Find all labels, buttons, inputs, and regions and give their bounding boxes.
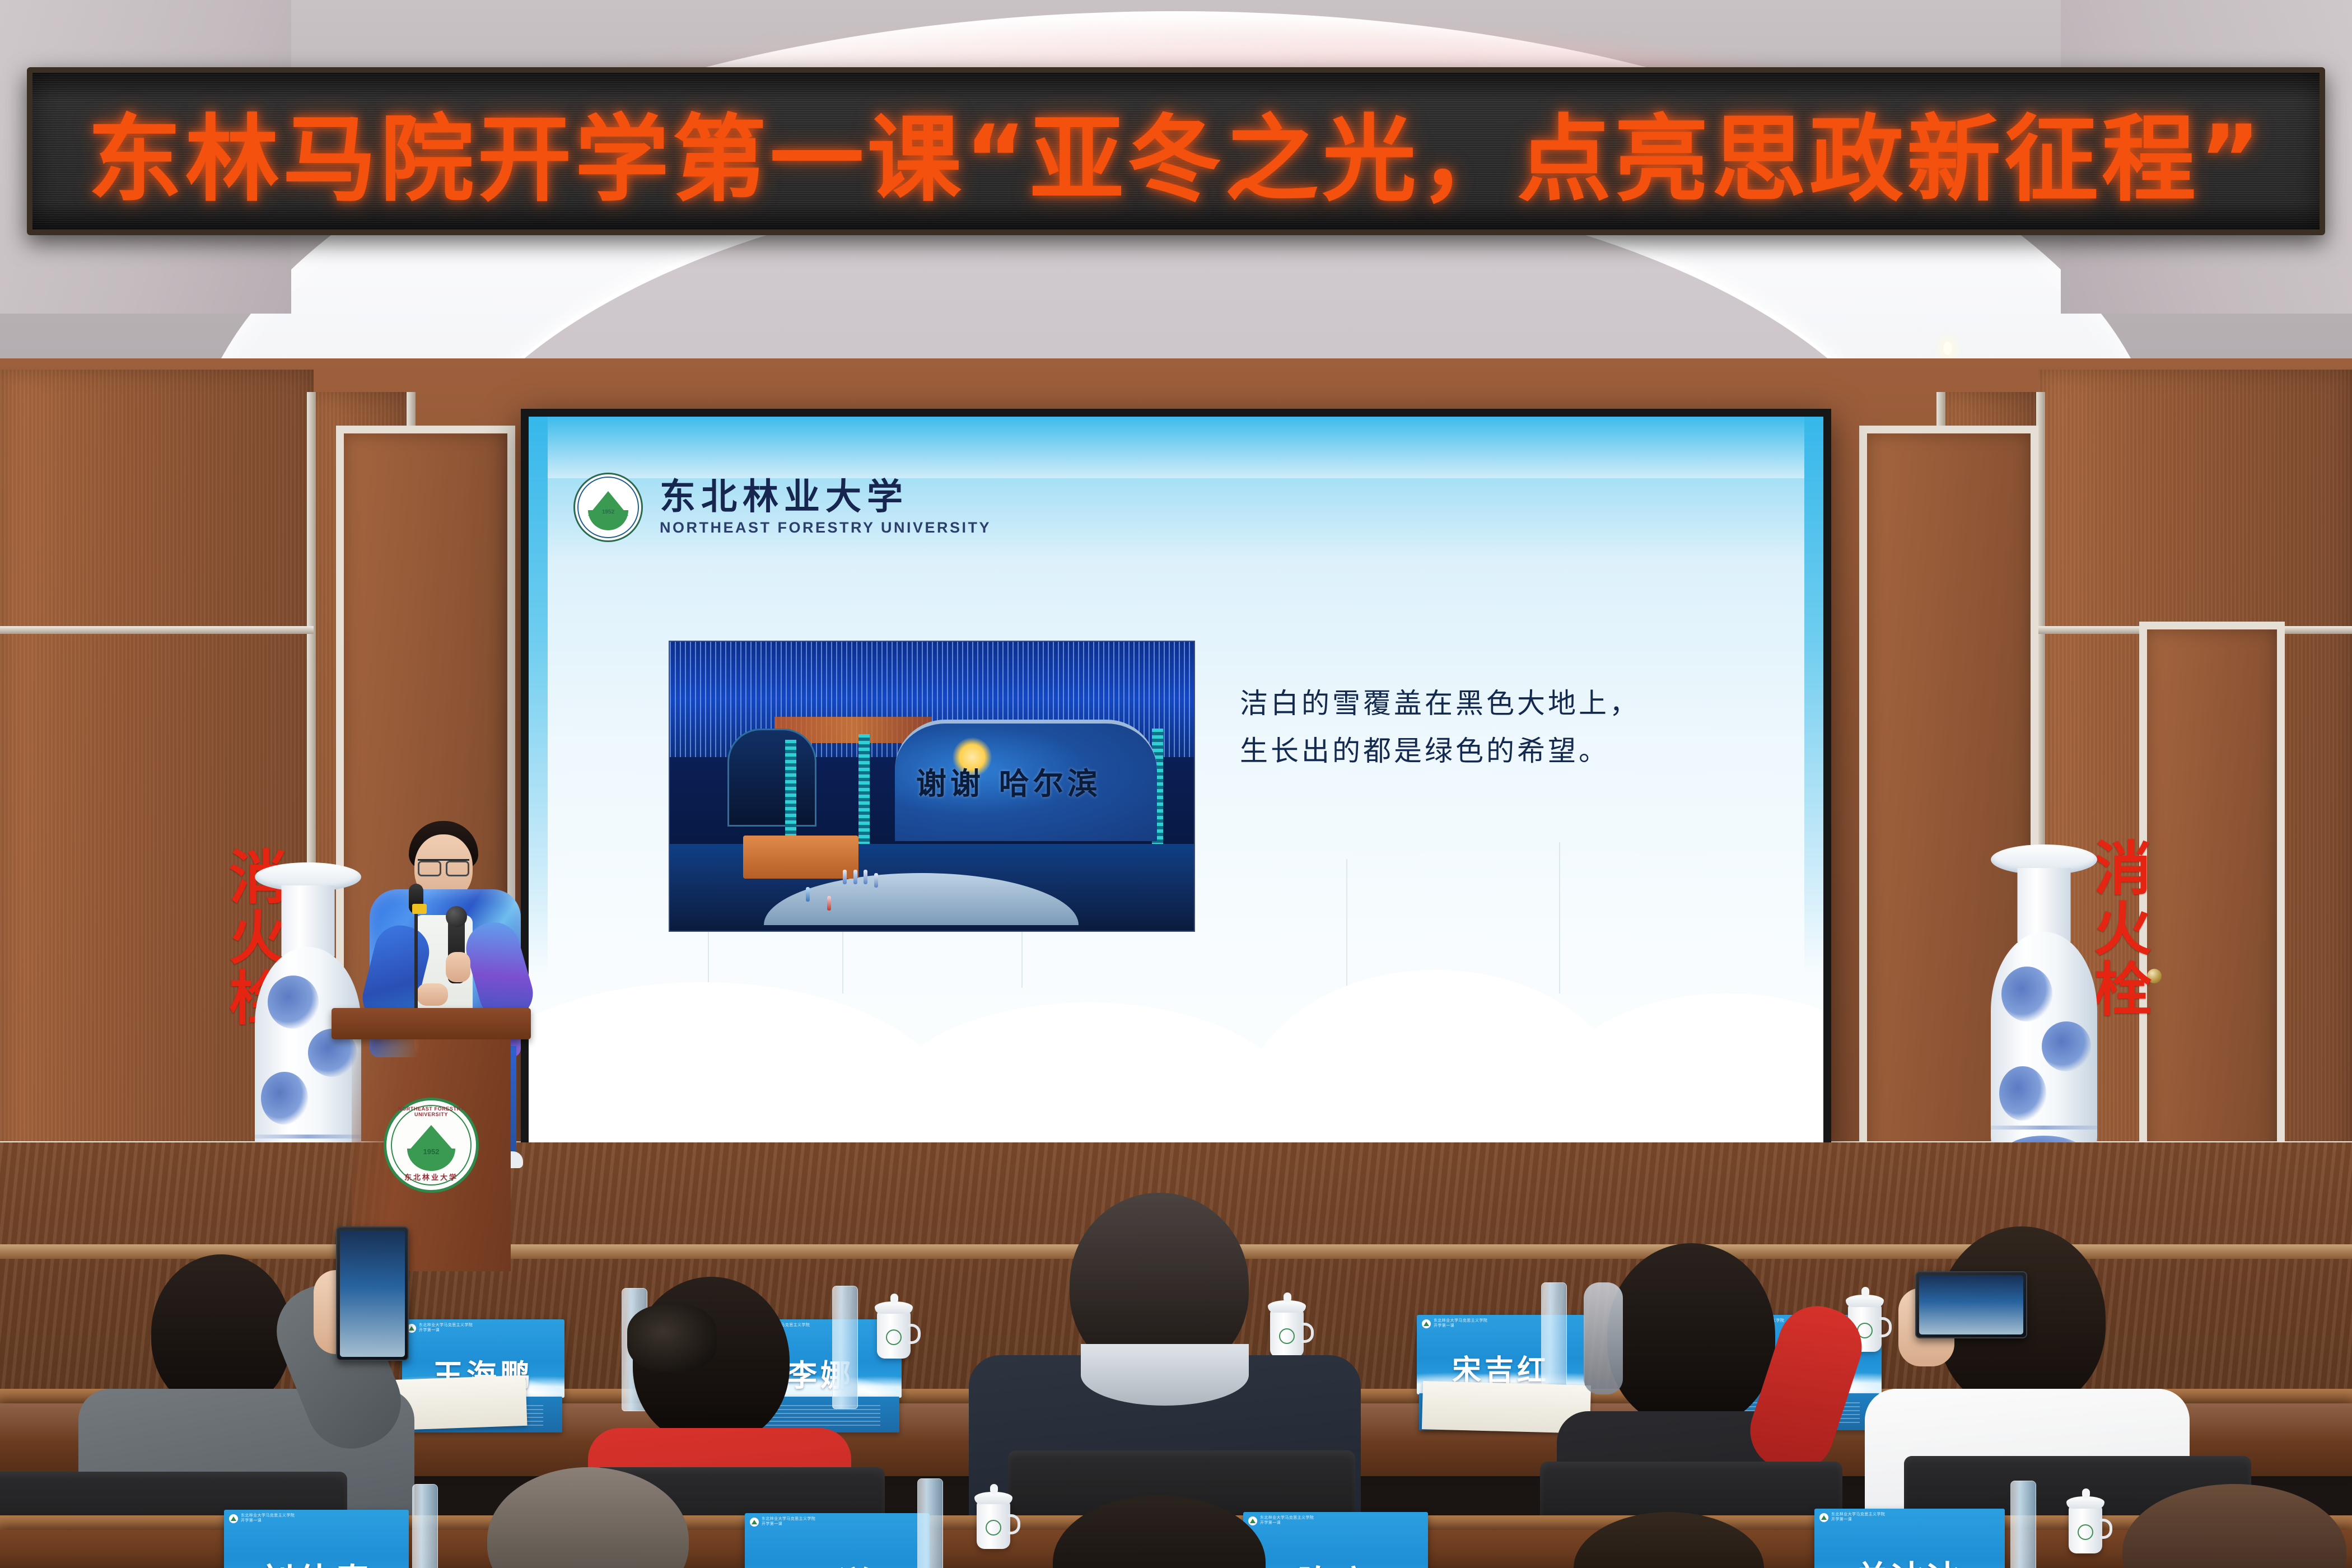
nameplate-org-line1: 东北林业大学马克思主义学院 [1434,1319,1487,1323]
hair-clip-icon [627,1305,717,1372]
seal-year: 1952 [602,509,614,515]
photo-performer [864,870,867,884]
photo-performer [806,887,810,902]
smartphone[interactable] [336,1226,409,1361]
nameplate-org-line1: 东北林业大学马克思主义学院 [1831,1513,1885,1516]
nameplate-logo-icon [1819,1513,1828,1522]
tea-cup [977,1501,1010,1549]
slide-photo: 谢谢 哈尔滨 [669,641,1195,932]
nameplate-logo-icon [229,1514,238,1523]
water-bottle [2010,1481,2036,1568]
nameplate-logo-icon [750,1518,759,1527]
person-head [1574,1512,1764,1568]
led-banner-text: 东林马院开学第一课“亚冬之光，点亮思政新征程” [88,83,2265,220]
nameplate-name: 关冰冰 [1814,1551,2005,1568]
slide-logo-lockup: 1952 东北林业大学 NORTHEAST FORESTRY UNIVERSIT… [573,473,991,542]
snow-ground [529,1062,1823,1146]
speaker-right-hand [446,952,470,982]
person-head [1607,1243,1775,1428]
speaker-left-hand [417,983,448,1006]
nameplate: 东北林业大学马克思主义学院 开学第一课 关冰冰 [1814,1509,2005,1568]
water-bottle [412,1484,438,1568]
person-collar [1081,1344,1249,1406]
podium-top [332,1008,531,1039]
person-head [2122,1484,2346,1568]
downlight-icon [1943,342,1952,355]
slide-quote: 洁白的雪覆盖在黑色大地上， 生长出的都是绿色的希望。 [1240,680,1789,775]
photo-arch [727,729,816,827]
nameplate-org-line2: 开学第一课 [1831,1518,1852,1522]
photo-performer [853,870,857,884]
led-banner: 东林马院开学第一课“亚冬之光，点亮思政新征程” [27,67,2325,235]
audience-person [465,1467,700,1568]
audience-person [2122,1484,2352,1568]
hair-clip-icon [1584,1282,1623,1394]
slide-quote-line-2: 生长出的都是绿色的希望。 [1240,727,1789,775]
audience-person [1042,1495,1277,1568]
photo-boat-prop [743,836,858,879]
slide-logo-cn: 东北林业大学 [660,478,991,516]
slide-logo-en: NORTHEAST FORESTRY UNIVERSITY [660,519,991,536]
nameplate-org-line2: 开学第一课 [1434,1324,1454,1328]
nameplate-org-line1: 东北林业大学马克思主义学院 [241,1514,295,1518]
nameplate-logo-icon [1422,1319,1431,1328]
podium-seal-en: NORTHEAST FORESTRY UNIVERSITY [386,1106,476,1117]
nameplate-org-line2: 开学第一课 [241,1519,262,1523]
audience-person [1568,1512,1770,1568]
nameplate-name: 刘佳春 [224,1553,409,1568]
nameplate: 东北林业大学马克思主义学院 开学第一课 刘佳春 [224,1510,409,1568]
podium-seal-cn: 东北林业大学 [386,1172,476,1182]
smartphone[interactable] [1915,1271,2027,1338]
photo-performer [843,870,847,884]
gooseneck-microphone-icon [414,907,418,1019]
slide-sky-band [529,417,1823,478]
background-tree [1559,842,1560,993]
background-tree [1346,859,1347,993]
person-head [1053,1495,1266,1568]
nameplate-org-line1: 东北林业大学马克思主义学院 [419,1323,473,1327]
slide-right-gradient [1804,417,1823,977]
wall-trim [0,626,314,634]
photo-banner-text: 谢谢 哈尔滨 [916,759,1141,803]
lecture-hall-scene: 东林马院开学第一课“亚冬之光，点亮思政新征程” 消火栓 消火栓 [0,0,2352,1568]
tea-cup [877,1310,911,1359]
projection-screen-frame: 1952 东北林业大学 NORTHEAST FORESTRY UNIVERSIT… [521,409,1831,1154]
nameplate-name: 于洋 [745,1556,930,1568]
slide-quote-line-1: 洁白的雪覆盖在黑色大地上， [1240,680,1789,727]
photo-stage-banner: 谢谢 哈尔滨 [895,720,1157,841]
porcelain-vase-right [1991,844,2097,1180]
water-bottle [917,1478,943,1568]
nameplate-org-line2: 开学第一课 [762,1522,782,1526]
nameplate-org-line2: 开学第一课 [419,1328,440,1332]
tea-cup [2069,1505,2102,1553]
glasses-icon [418,859,469,871]
photo-performer [827,896,831,911]
nameplate-org-line1: 东北林业大学马克思主义学院 [762,1517,815,1521]
nefu-podium-seal-icon: NORTHEAST FORESTRY UNIVERSITY 1952 东北林业大… [384,1098,479,1193]
nameplate: 东北林业大学马克思主义学院 开学第一课 于洋 [745,1513,930,1568]
person-head [487,1467,689,1568]
podium-seal-year: 1952 [423,1147,440,1156]
projection-screen-surface: 1952 东北林业大学 NORTHEAST FORESTRY UNIVERSIT… [529,417,1823,1146]
photo-performer [874,873,878,888]
person-head [151,1254,291,1411]
slide-left-gradient [529,417,548,977]
nefu-seal-icon: 1952 [573,473,643,542]
